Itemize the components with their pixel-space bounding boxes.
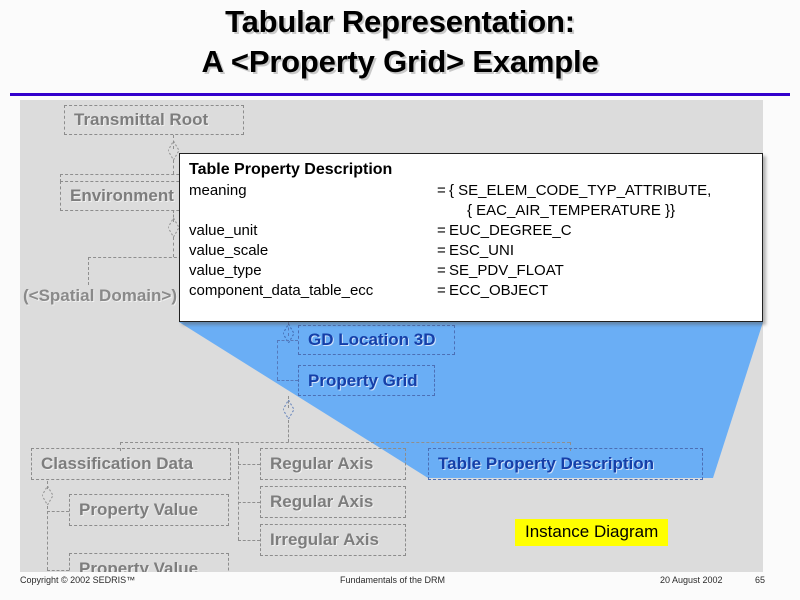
node-classification-data[interactable]: Classification Data [31,448,231,480]
property-name: component_data_table_ecc [189,281,437,301]
connector-bar-to-axes [238,442,239,451]
property-value: ECC_OBJECT [449,281,762,301]
aggregation-diamond-class [42,486,53,505]
page-title-line-2: A <Property Grid> Example [0,42,800,82]
property-row-value-unit: value_unit = EUC_DEGREE_C [189,221,762,241]
node-label: Property Value [79,500,198,520]
connector-class-child-1 [47,511,69,512]
title-divider [10,93,790,96]
node-property-value-1[interactable]: Property Value [69,494,229,526]
connector-axis-3 [238,540,260,541]
connector-grid-children-bar [120,442,570,443]
property-row-value-type: value_type = SE_PDV_FLOAT [189,261,762,281]
node-spatial-domain: (<Spatial Domain>) [23,286,177,306]
instance-diagram-caption: Instance Diagram [515,519,668,546]
connector-grid-to-bar [288,420,289,442]
property-equals: = [437,221,449,241]
property-equals: = [437,241,449,261]
property-value: EUC_DEGREE_C [449,221,762,241]
node-table-property-description[interactable]: Table Property Description [428,448,703,480]
property-value: ESC_UNI [449,241,762,261]
caption-label: Instance Diagram [525,522,658,541]
node-label: (<Spatial Domain>) [23,286,177,305]
node-label: Classification Data [41,454,193,474]
property-name: value_type [189,261,437,281]
property-row-meaning: meaning = { SE_ELEM_CODE_TYP_ATTRIBUTE, [189,181,762,201]
property-name: value_unit [189,221,437,241]
footer-copyright: Copyright © 2002 SEDRIS™ [20,575,135,585]
connector-axis-1 [238,464,260,465]
connector-class-child-2 [47,570,69,571]
aggregation-diamond-root [168,141,179,160]
connector-gd-branch-vertical [277,340,278,380]
property-row-component-data-table-ecc: component_data_table_ecc = ECC_OBJECT [189,281,762,301]
footer-page-number: 65 [755,575,765,585]
table-property-description-panel: Table Property Description meaning = { S… [179,153,763,322]
node-property-grid[interactable]: Property Grid [298,365,435,396]
node-label: Transmittal Root [74,110,208,130]
aggregation-diamond-grid [283,400,294,419]
property-name: value_scale [189,241,437,261]
slide-footer: Copyright © 2002 SEDRIS™ Fundamentals of… [0,575,800,595]
node-label: Property Value [79,559,198,572]
node-irregular-axis[interactable]: Irregular Axis [260,524,406,556]
node-regular-axis-2[interactable]: Regular Axis [260,486,406,518]
slide-title: Tabular Representation: A <Property Grid… [0,2,800,90]
connector-gd-branch-2 [277,380,298,381]
connector-diamond-to-env [173,160,174,174]
panel-title: Table Property Description [189,161,762,179]
connector-env-to-children [173,237,174,257]
node-label: Property Grid [308,371,418,391]
property-name: meaning [189,181,437,201]
connector-axis-2 [238,502,260,503]
node-label: Regular Axis [270,492,373,512]
connector-to-spatial-domain [88,257,89,285]
property-value: { SE_ELEM_CODE_TYP_ATTRIBUTE, [449,181,762,201]
node-gd-location-3d[interactable]: GD Location 3D [298,325,455,355]
property-value: { EAC_AIR_TEMPERATURE }} [449,201,762,221]
property-value: SE_PDV_FLOAT [449,261,762,281]
node-label: Irregular Axis [270,530,379,550]
property-equals: = [437,261,449,281]
property-row-meaning-continued: { EAC_AIR_TEMPERATURE }} [189,201,762,221]
node-label: Regular Axis [270,454,373,474]
node-regular-axis-1[interactable]: Regular Axis [260,448,406,480]
node-transmittal-root[interactable]: Transmittal Root [64,105,244,135]
property-row-value-scale: value_scale = ESC_UNI [189,241,762,261]
footer-date: 20 August 2002 [660,575,723,585]
node-label: Table Property Description [438,454,654,474]
property-equals: = [437,181,449,201]
node-label: GD Location 3D [308,330,436,350]
property-equals: = [437,281,449,301]
footer-center-text: Fundamentals of the DRM [340,575,445,585]
connector-class-children-spine [47,506,48,570]
page-title-line-1: Tabular Representation: [0,2,800,42]
node-property-value-2[interactable]: Property Value [69,553,229,572]
connector-gd-branch-1 [277,340,298,341]
aggregation-diamond-env [168,218,179,237]
